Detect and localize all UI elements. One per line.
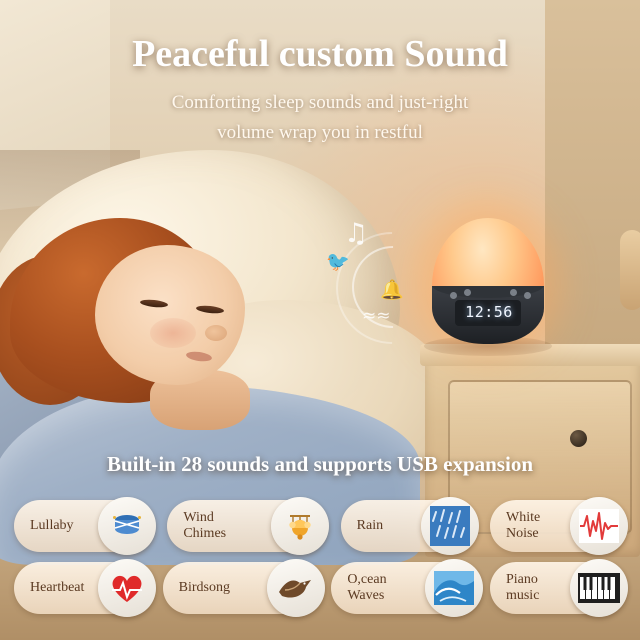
device-button-4[interactable] (524, 292, 531, 299)
feature-label: Piano music (506, 572, 539, 604)
drawer-knob-icon (570, 430, 587, 447)
child-nose (205, 325, 227, 341)
drum-icon (98, 497, 156, 555)
feature-pill-grid: Lullaby Wind Chimes (14, 500, 626, 628)
bird-flying-icon (267, 559, 325, 617)
child-cheek (150, 318, 196, 348)
device-button-2[interactable] (464, 289, 471, 296)
heart-icon (98, 559, 156, 617)
device-button-3[interactable] (510, 289, 517, 296)
page-title: Peaceful custom Sound (0, 32, 640, 76)
feature-label: Birdsong (179, 580, 230, 596)
music-note-icon: ♫ (344, 218, 368, 249)
ocean-wave-icon (425, 559, 483, 617)
device-button-1[interactable] (450, 292, 457, 299)
sound-wave-icon: ≈≈ (362, 306, 391, 326)
feature-pill-piano-music[interactable]: Piano music (490, 562, 626, 614)
rain-icon (421, 497, 479, 555)
subtitle-line-2: volume wrap you in restful (0, 118, 640, 148)
feature-row-2: Heartbeat Birdsong (14, 562, 626, 614)
feature-pill-rain[interactable]: Rain (341, 500, 477, 552)
feature-pill-heartbeat[interactable]: Heartbeat (14, 562, 154, 614)
waveform-icon (570, 497, 628, 555)
feature-label: White Noise (506, 510, 540, 542)
feature-pill-birdsong[interactable]: Birdsong (163, 562, 323, 614)
device-clock-display: 12:56 (458, 303, 520, 321)
subtitle-line-1: Comforting sleep sounds and just-right (0, 88, 640, 118)
product-infographic: ♫ 🐦 🔔 ≈≈ 12:56 Peaceful custom Sound Com… (0, 0, 640, 640)
wind-chimes-icon (271, 497, 329, 555)
bird-icon: 🐦 (326, 250, 350, 273)
feature-pill-wind-chimes[interactable]: Wind Chimes (167, 500, 327, 552)
feature-label: Heartbeat (30, 580, 84, 596)
bell-icon: 🔔 (380, 278, 404, 301)
feature-label: Wind Chimes (183, 510, 226, 542)
feature-pill-ocean-waves[interactable]: O,cean Waves (331, 562, 481, 614)
feature-banner: Built-in 28 sounds and supports USB expa… (0, 452, 640, 477)
piano-icon (570, 559, 628, 617)
feature-label: Lullaby (30, 518, 74, 534)
feature-row-1: Lullaby Wind Chimes (14, 500, 626, 552)
feature-pill-white-noise[interactable]: White Noise (490, 500, 626, 552)
feature-label: O,cean Waves (347, 572, 386, 604)
feature-pill-lullaby[interactable]: Lullaby (14, 500, 154, 552)
feature-label: Rain (357, 518, 383, 534)
subtitle: Comforting sleep sounds and just-right v… (0, 88, 640, 148)
background-object (620, 230, 640, 310)
